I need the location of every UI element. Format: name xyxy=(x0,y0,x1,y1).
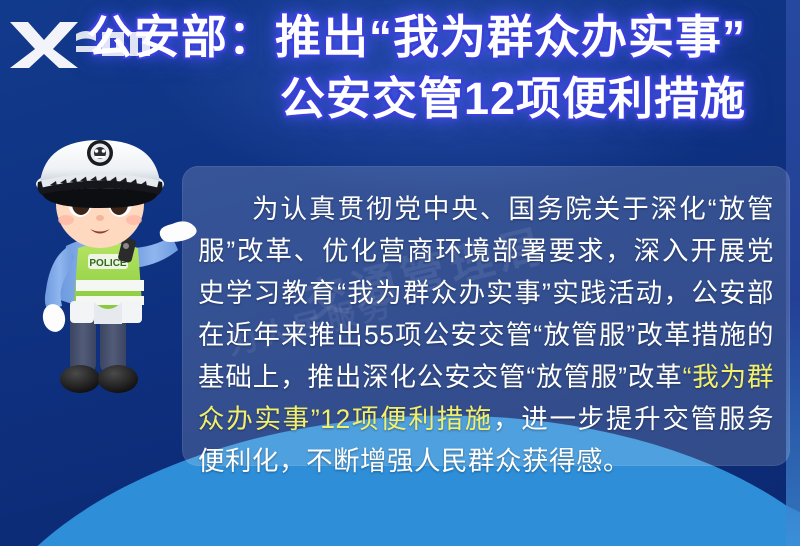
mascot-police-cap xyxy=(36,140,164,208)
traffic-police-mascot: POLICE xyxy=(8,96,208,396)
title-line-1: 公安部：推出“我为群众办实事” xyxy=(48,6,746,68)
cap-badge-icon xyxy=(87,140,113,166)
body-text-panel: 为认真贯彻党中央、国务院关于深化“放管服”改革、优化营商环境部署要求，深入开展党… xyxy=(182,166,790,466)
body-paragraph: 为认真贯彻党中央、国务院关于深化“放管服”改革、优化营商环境部署要求，深入开展党… xyxy=(198,188,774,482)
poster-root: 交通管理局 为人民服务 公安部：推出“我为群众办实事” 公安交管12项便利措施 xyxy=(0,0,800,546)
